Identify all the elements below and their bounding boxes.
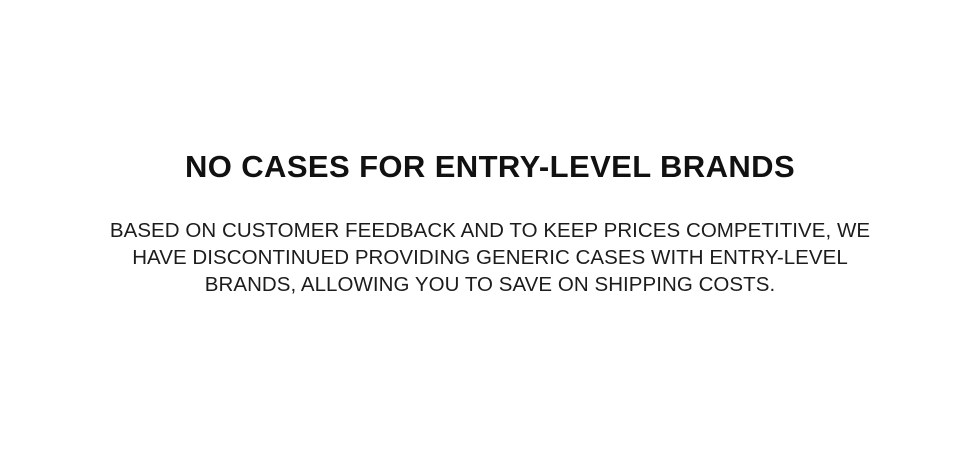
announcement-heading: NO CASES FOR ENTRY-LEVEL BRANDS (185, 150, 795, 184)
announcement-body-text: BASED ON CUSTOMER FEEDBACK AND TO KEEP P… (90, 217, 890, 298)
announcement-section: NO CASES FOR ENTRY-LEVEL BRANDS BASED ON… (0, 0, 980, 450)
